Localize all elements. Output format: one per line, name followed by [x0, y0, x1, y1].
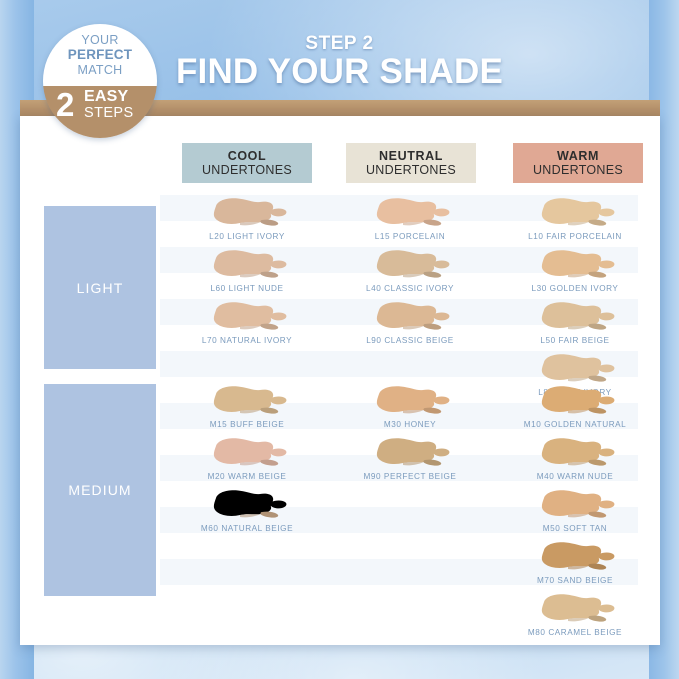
badge-step-number: 2 [56, 88, 74, 121]
shade-swatch [530, 353, 620, 387]
column-header-warm-title: WARM [557, 149, 599, 163]
shade-cell[interactable]: L60 LIGHT NUDE [172, 249, 322, 301]
column-header-warm-sub: UNDERTONES [533, 163, 623, 177]
badge-line-your: YOUR [43, 33, 157, 47]
shade-cell[interactable]: M40 WARM NUDE [500, 437, 650, 489]
perfect-match-badge: YOUR PERFECT MATCH 2 EASY STEPS [43, 24, 157, 138]
shade-name-label: M90 PERFECT BEIGE [335, 472, 485, 481]
column-header-cool-title: COOL [228, 149, 267, 163]
shade-swatch [202, 301, 292, 335]
shade-swatch [530, 489, 620, 523]
shade-cell[interactable]: L90 CLASSIC BEIGE [335, 301, 485, 353]
shade-name-label: M70 SAND BEIGE [500, 576, 650, 585]
shade-swatch [365, 437, 455, 471]
shade-name-label: M15 BUFF BEIGE [172, 420, 322, 429]
group-label-medium: MEDIUM [68, 482, 131, 498]
shade-name-label: M80 CARAMEL BEIGE [500, 628, 650, 637]
badge-line-match: MATCH [43, 63, 157, 77]
shade-swatch [365, 385, 455, 419]
shade-finder-page: STEP 2 FIND YOUR SHADE YOUR PERFECT MATC… [0, 0, 679, 679]
shade-swatch [530, 301, 620, 335]
shade-name-label: L50 FAIR BEIGE [500, 336, 650, 345]
shade-cell[interactable]: M10 GOLDEN NATURAL [500, 385, 650, 437]
shade-swatch [530, 385, 620, 419]
shade-name-label: L90 CLASSIC BEIGE [335, 336, 485, 345]
shade-cell[interactable]: M80 CARAMEL BEIGE [500, 593, 650, 645]
shade-name-label: M30 HONEY [335, 420, 485, 429]
column-header-warm: WARM UNDERTONES [513, 143, 643, 183]
shade-cell[interactable]: L15 PORCELAIN [335, 197, 485, 249]
shade-swatch [202, 249, 292, 283]
shade-cell[interactable]: M30 HONEY [335, 385, 485, 437]
column-header-neutral-sub: UNDERTONES [366, 163, 456, 177]
shade-swatch [202, 385, 292, 419]
column-header-neutral: NEUTRAL UNDERTONES [346, 143, 476, 183]
shade-swatch [530, 593, 620, 627]
shade-name-label: L10 FAIR PORCELAIN [500, 232, 650, 241]
shade-cell[interactable]: M90 PERFECT BEIGE [335, 437, 485, 489]
shade-name-label: M50 SOFT TAN [500, 524, 650, 533]
shade-name-label: M60 NATURAL BEIGE [172, 524, 322, 533]
shade-cell[interactable]: M50 SOFT TAN [500, 489, 650, 541]
group-block-light: LIGHT [44, 206, 156, 369]
shade-name-label: L30 GOLDEN IVORY [500, 284, 650, 293]
shade-name-label: M20 WARM BEIGE [172, 472, 322, 481]
shade-cell[interactable]: L50 FAIR BEIGE [500, 301, 650, 353]
shade-name-label: M10 GOLDEN NATURAL [500, 420, 650, 429]
shade-swatch [530, 541, 620, 575]
shade-cell[interactable]: L30 GOLDEN IVORY [500, 249, 650, 301]
shade-name-label: M40 WARM NUDE [500, 472, 650, 481]
shade-swatch [202, 437, 292, 471]
group-block-medium: MEDIUM [44, 384, 156, 596]
shade-name-label: L60 LIGHT NUDE [172, 284, 322, 293]
shade-swatch [202, 197, 292, 231]
shade-swatch [365, 197, 455, 231]
badge-steps-label: STEPS [84, 106, 134, 121]
shade-cell[interactable]: M20 WARM BEIGE [172, 437, 322, 489]
shade-swatch [530, 437, 620, 471]
badge-line-perfect: PERFECT [43, 47, 157, 62]
shade-cell[interactable]: M15 BUFF BEIGE [172, 385, 322, 437]
column-header-neutral-title: NEUTRAL [379, 149, 443, 163]
shade-swatch [202, 489, 292, 523]
shade-swatch [365, 301, 455, 335]
shade-swatch [365, 249, 455, 283]
shade-swatch [530, 249, 620, 283]
shade-cell[interactable]: L20 LIGHT IVORY [172, 197, 322, 249]
shade-name-label: L70 NATURAL IVORY [172, 336, 322, 345]
shade-cell[interactable]: M60 NATURAL BEIGE [172, 489, 322, 541]
shade-name-label: L15 PORCELAIN [335, 232, 485, 241]
column-header-cool: COOL UNDERTONES [182, 143, 312, 183]
shade-name-label: L40 CLASSIC IVORY [335, 284, 485, 293]
shade-cell[interactable]: L70 NATURAL IVORY [172, 301, 322, 353]
group-label-light: LIGHT [77, 280, 124, 296]
shade-name-label: L20 LIGHT IVORY [172, 232, 322, 241]
shade-cell[interactable]: L10 FAIR PORCELAIN [500, 197, 650, 249]
shade-cell[interactable]: L40 CLASSIC IVORY [335, 249, 485, 301]
badge-easy-label: EASY [84, 89, 128, 105]
shade-cell[interactable]: M70 SAND BEIGE [500, 541, 650, 593]
column-header-cool-sub: UNDERTONES [202, 163, 292, 177]
shade-swatch [530, 197, 620, 231]
